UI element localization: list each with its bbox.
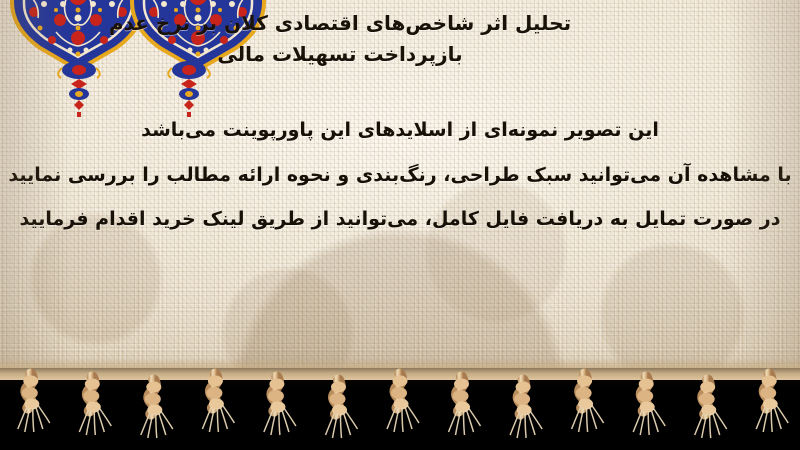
carpet-fringe-tassel-icon: [449, 377, 481, 435]
carpet-fringe-tassel-icon: [695, 380, 727, 438]
carpet-fringe-tassel-icon: [572, 374, 604, 432]
carpet-fringe-tassel-icon: [264, 377, 296, 435]
carpet-fringe-tassel-icon: [756, 374, 788, 432]
carpet-fringe-tassel-icon: [202, 374, 234, 432]
carpet-fringe-tassel-icon: [326, 380, 358, 438]
body-line-3: در صورت تمایل به دریافت فایل کامل، می‌تو…: [0, 197, 800, 242]
carpet-fringe-tassel-icon: [633, 377, 665, 435]
slide-canvas: تحلیل اثر شاخص‌های اقتصادی کلان بر نرخ ع…: [0, 0, 800, 450]
carpet-fringe-tassel-icon: [387, 374, 419, 432]
carpet-fringe-tassel-icon: [141, 380, 173, 438]
carpet-fringe-row: [0, 358, 800, 450]
body-line-1: این تصویر نمونه‌ای از اسلایدهای این پاور…: [0, 108, 800, 153]
slide-body: این تصویر نمونه‌ای از اسلایدهای این پاور…: [0, 108, 800, 242]
carpet-fringe-tassel-icon: [510, 380, 542, 438]
carpet-fringe-tassel-icon: [79, 377, 111, 435]
carpet-fringe-tassel-icon: [18, 374, 50, 432]
body-line-2: با مشاهده آن می‌توانید سبک طراحی، رنگ‌بن…: [0, 153, 800, 198]
slide-title: تحلیل اثر شاخص‌های اقتصادی کلان بر نرخ ع…: [0, 8, 800, 70]
